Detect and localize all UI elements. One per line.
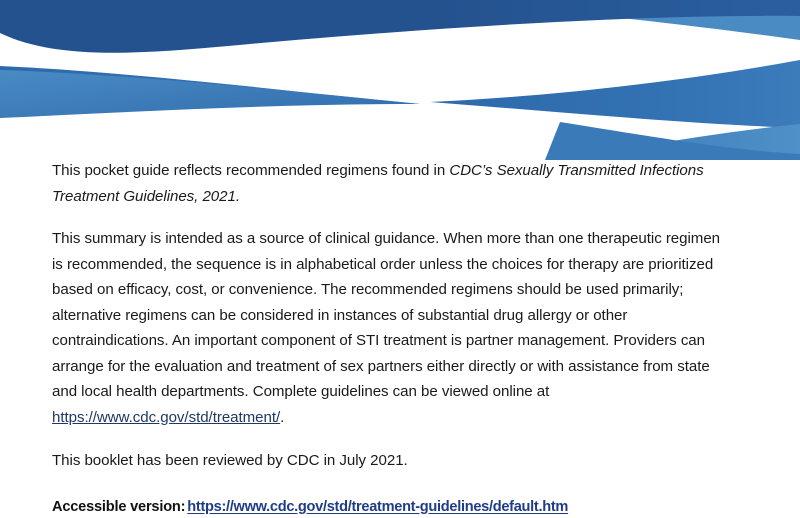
paragraph1-lead: This pocket guide reflects recommended r… xyxy=(52,162,449,179)
blue-wave-banner xyxy=(0,0,800,160)
accessible-version-label: Accessible version: xyxy=(52,499,185,515)
wave-graphic xyxy=(0,0,800,160)
paragraph2-period: . xyxy=(280,409,284,426)
paragraph-pocket-guide: This pocket guide reflects recommended r… xyxy=(52,158,724,209)
cdc-treatment-link[interactable]: https://www.cdc.gov/std/treatment/ xyxy=(52,409,280,426)
paragraph2-text: This summary is intended as a source of … xyxy=(52,230,720,400)
paragraph-review-note: This booklet has been reviewed by CDC in… xyxy=(52,448,724,474)
accessible-version-line: Accessible version:https://www.cdc.gov/s… xyxy=(52,496,724,518)
accessible-version-link[interactable]: https://www.cdc.gov/std/treatment-guidel… xyxy=(187,499,568,515)
page-root: This pocket guide reflects recommended r… xyxy=(0,0,800,480)
content-body: This pocket guide reflects recommended r… xyxy=(52,158,724,518)
paragraph-summary: This summary is intended as a source of … xyxy=(52,226,724,430)
